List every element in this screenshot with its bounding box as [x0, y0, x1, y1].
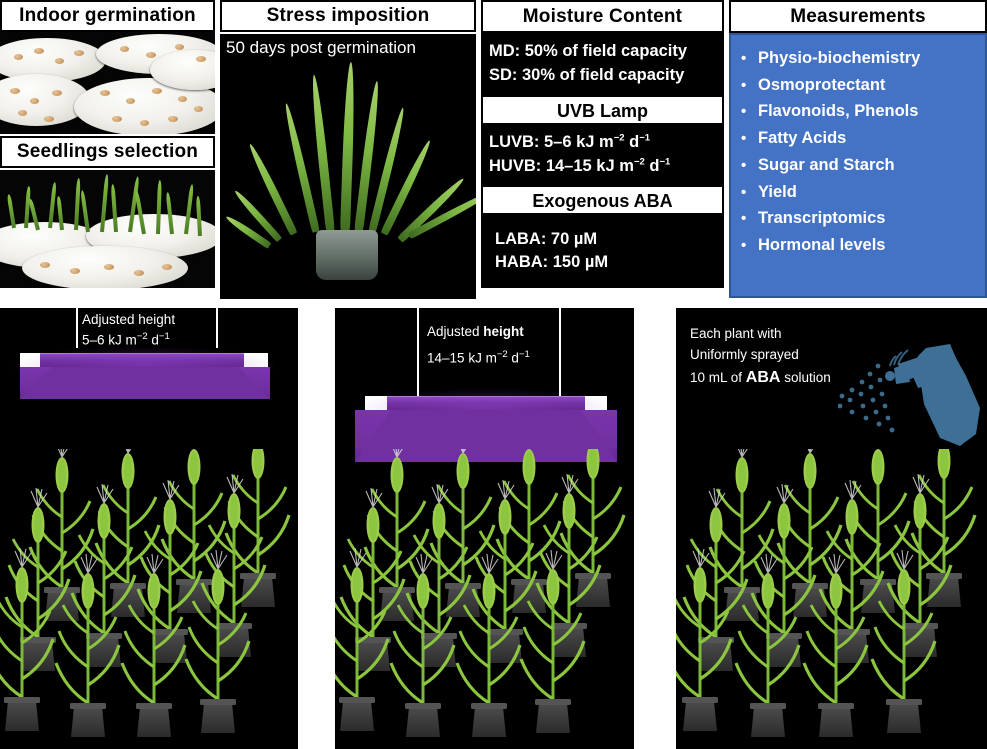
bullet-icon: •	[741, 207, 758, 231]
panel-title-moisture-content: Moisture Content	[481, 0, 724, 33]
measurements-list: •Physio-biochemistry •Osmoprotectant •Fl…	[729, 33, 987, 298]
aba-laba: LABA: 70 µM	[495, 228, 716, 251]
bullet-icon: •	[741, 181, 758, 205]
wheat-field-luvb	[0, 449, 298, 749]
wheat-field-huvb	[335, 449, 634, 749]
uvb-values: LUVB: 5–6 kJ m−2 d−1 HUVB: 14–15 kJ m−2 …	[481, 125, 724, 185]
callout-line-1: Adjusted height	[82, 310, 175, 330]
wheat-field-aba	[676, 449, 987, 749]
callout-line-2: 5–6 kJ m−2 d−1	[82, 330, 175, 351]
panel-title-stress-imposition: Stress imposition	[220, 0, 476, 32]
panel-measurements: Measurements •Physio-biochemistry •Osmop…	[729, 0, 987, 298]
callout-rule-left	[417, 308, 419, 396]
uvb-luvb: LUVB: 5–6 kJ m−2 d−1	[489, 131, 716, 154]
top-panel-row: Indoor germination	[0, 0, 987, 298]
callout-luvb: Adjusted height 5–6 kJ m−2 d−1	[82, 310, 175, 351]
callout-line-2: 14–15 kJ m−2 d−1	[427, 348, 530, 369]
list-item: •Physio-biochemistry	[741, 45, 979, 72]
panel-stress-imposition: Stress imposition 50 days post germinati…	[220, 0, 476, 299]
callout-rule-right	[559, 308, 561, 396]
bullet-icon: •	[741, 127, 758, 151]
aba-haba: HABA: 150 µM	[495, 251, 716, 274]
panel-title-measurements: Measurements	[729, 0, 987, 33]
callout-rule-left	[76, 308, 78, 348]
panel-indoor-germination: Indoor germination	[0, 0, 215, 288]
callout-line-2: Uniformly sprayed	[690, 345, 831, 366]
subheader-uvb-lamp: UVB Lamp	[481, 95, 724, 125]
callout-huvb: Adjusted height 14–15 kJ m−2 d−1	[427, 322, 530, 369]
list-item: •Sugar and Starch	[741, 152, 979, 179]
callout-line-1: Each plant with	[690, 324, 831, 345]
subheader-exogenous-aba: Exogenous ABA	[481, 185, 724, 215]
panel-aba-treatment: Each plant with Uniformly sprayed 10 mL …	[676, 308, 987, 749]
panel-title-indoor-germination: Indoor germination	[0, 0, 215, 32]
moisture-sd: SD: 30% of field capacity	[489, 64, 716, 87]
list-item: •Fatty Acids	[741, 125, 979, 152]
list-item: •Flavonoids, Phenols	[741, 98, 979, 125]
uvb-huvb: HUVB: 14–15 kJ m−2 d−1	[489, 155, 716, 178]
list-item: •Osmoprotectant	[741, 72, 979, 99]
spray-bottle-icon	[838, 342, 986, 470]
panel-moisture-content: Moisture Content MD: 50% of field capaci…	[481, 0, 724, 288]
image-germination-dishes	[0, 32, 215, 134]
aba-values: LABA: 70 µM HABA: 150 µM	[481, 215, 724, 288]
callout-aba: Each plant with Uniformly sprayed 10 mL …	[690, 324, 831, 391]
uv-beam-icon	[20, 367, 270, 399]
list-item: •Yield	[741, 179, 979, 206]
callout-rule-right	[216, 308, 218, 348]
bullet-icon: •	[741, 154, 758, 178]
bullet-icon: •	[741, 234, 758, 258]
bullet-icon: •	[741, 74, 758, 98]
callout-line-3: 10 mL of ABA solution	[690, 366, 831, 391]
moisture-values: MD: 50% of field capacity SD: 30% of fie…	[481, 33, 724, 95]
bullet-icon: •	[741, 100, 758, 124]
image-wheat-plant-pot: 50 days post germination	[220, 34, 476, 299]
panel-luvb-treatment: Adjusted height 5–6 kJ m−2 d−1	[0, 308, 298, 749]
panel-huvb-treatment: Adjusted height 14–15 kJ m−2 d−1	[335, 308, 634, 749]
image-seedlings-dishes	[0, 170, 215, 288]
list-item: •Hormonal levels	[741, 232, 979, 259]
bullet-icon: •	[741, 47, 758, 71]
list-item: •Transcriptomics	[741, 205, 979, 232]
caption-days-post-germination: 50 days post germination	[226, 38, 416, 58]
callout-line-1: Adjusted height	[427, 322, 530, 342]
moisture-md: MD: 50% of field capacity	[489, 40, 716, 63]
panel-title-seedlings-selection: Seedlings selection	[0, 136, 215, 168]
